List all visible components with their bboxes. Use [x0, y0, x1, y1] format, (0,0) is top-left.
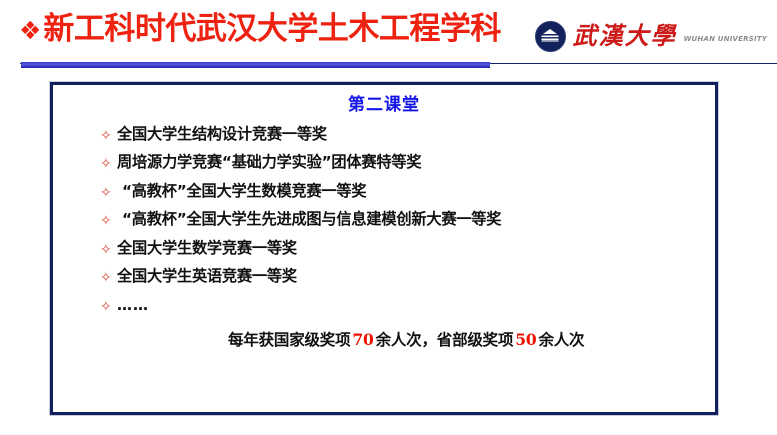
summary-part-3: 余人次 [538, 331, 584, 349]
list-item-label: “高教杯”全国大学生数模竞赛一等奖 [117, 183, 366, 200]
list-item-label: 全国大学生英语竞赛一等奖 [117, 268, 297, 285]
summary-part-2: 余人次，省部级奖项 [376, 331, 514, 349]
list-item-label: 周培源力学竞赛“基础力学实验”团体赛特等奖 [117, 154, 421, 171]
list-item: ✧ …… [53, 297, 715, 314]
diamond-bullet-icon: ❖ [19, 18, 41, 43]
award-list: ✧ 全国大学生结构设计竞赛一等奖 ✧ 周培源力学竞赛“基础力学实验”团体赛特等奖… [53, 126, 715, 314]
list-item: ✧ “高教杯”全国大学生数模竞赛一等奖 [53, 183, 715, 200]
logo-name-en: WUHAN UNIVERSITY [684, 35, 767, 43]
logo-name-cn: 武漢大學 [573, 24, 677, 48]
star-diamond-bullet-icon: ✧ [100, 243, 117, 257]
list-item: ✧ 全国大学生数学竞赛一等奖 [53, 240, 715, 257]
star-diamond-bullet-icon: ✧ [100, 300, 117, 314]
university-logo: 武漢大學 WUHAN UNIVERSITY [535, 16, 767, 56]
header-divider-bar [21, 62, 490, 68]
list-item-label: 全国大学生数学竞赛一等奖 [117, 240, 297, 257]
national-award-count: 70 [350, 330, 375, 349]
provincial-award-count: 50 [513, 330, 538, 349]
summary-statistics: 每年获国家级奖项70余人次，省部级奖项50余人次 [53, 328, 715, 350]
list-item-label: “高教杯”全国大学生先进成图与信息建模创新大赛一等奖 [117, 211, 501, 228]
star-diamond-bullet-icon: ✧ [100, 186, 117, 200]
panel-title: 第二课堂 [53, 96, 715, 115]
list-item: ✧ 全国大学生英语竞赛一等奖 [53, 268, 715, 285]
page-title-text: 新工科时代武汉大学土木工程学科 [43, 14, 501, 45]
star-diamond-bullet-icon: ✧ [100, 271, 117, 285]
list-item-label: 全国大学生结构设计竞赛一等奖 [117, 126, 327, 143]
list-item: ✧ “高教杯”全国大学生先进成图与信息建模创新大赛一等奖 [53, 211, 715, 228]
star-diamond-bullet-icon: ✧ [100, 157, 117, 171]
summary-part-1: 每年获国家级奖项 [228, 331, 350, 349]
content-panel: 第二课堂 ✧ 全国大学生结构设计竞赛一等奖 ✧ 周培源力学竞赛“基础力学实验”团… [50, 82, 718, 415]
wuhan-university-seal-icon [535, 21, 566, 52]
page-title: ❖ 新工科时代武汉大学土木工程学科 [19, 14, 501, 45]
star-diamond-bullet-icon: ✧ [100, 129, 117, 143]
list-item-label: …… [117, 297, 149, 314]
list-item: ✧ 全国大学生结构设计竞赛一等奖 [53, 126, 715, 143]
star-diamond-bullet-icon: ✧ [100, 214, 117, 228]
slide-header: ❖ 新工科时代武汉大学土木工程学科 武漢大學 WUHAN UNIVERSITY [0, 0, 777, 68]
list-item: ✧ 周培源力学竞赛“基础力学实验”团体赛特等奖 [53, 154, 715, 171]
